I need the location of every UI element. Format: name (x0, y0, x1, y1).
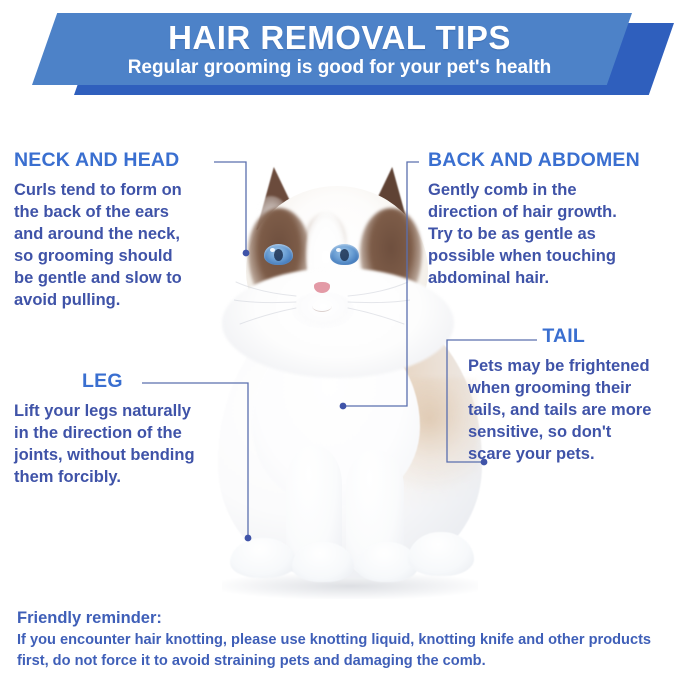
footer-body: If you encounter hair knotting, please u… (17, 630, 667, 670)
cat-eye-glint-left (270, 248, 275, 252)
cat-eye-right (330, 244, 359, 265)
cat-paw-1 (230, 538, 296, 578)
tip-block-leg: LEG Lift your legs naturally in the dire… (14, 371, 230, 489)
page-subtitle: Regular grooming is good for your pet's … (128, 58, 552, 79)
cat-paw-2 (292, 542, 354, 582)
tip-body-tail: Pets may be frightened when grooming the… (468, 356, 679, 466)
cat-paw-4 (408, 532, 474, 576)
tip-body-leg: Lift your legs naturally in the directio… (14, 401, 230, 489)
tip-body-neck-and-head: Curls tend to form on the back of the ea… (14, 180, 229, 312)
tip-block-tail: TAIL Pets may be frightened when groomin… (468, 326, 679, 466)
tip-block-neck-and-head: NECK AND HEAD Curls tend to form on the … (14, 150, 229, 312)
tip-heading-leg: LEG (82, 371, 230, 392)
cat-whiskers (234, 270, 410, 330)
footer-title: Friendly reminder: (17, 608, 667, 629)
tip-heading-tail: TAIL (468, 326, 585, 347)
tip-body-back-and-abdomen: Gently comb in the direction of hair gro… (428, 180, 678, 290)
cat-pupil-left (274, 249, 283, 261)
banner-text-group: HAIR REMOVAL TIPS Regular grooming is go… (0, 13, 679, 87)
page-title: HAIR REMOVAL TIPS (168, 21, 511, 56)
tip-block-back-and-abdomen: BACK AND ABDOMEN Gently comb in the dire… (428, 150, 678, 290)
cat-pupil-right (340, 249, 349, 261)
cat-eye-glint-right (336, 248, 341, 252)
tip-heading-neck-and-head: NECK AND HEAD (14, 150, 229, 171)
cat-eye-left (264, 244, 293, 265)
tip-heading-back-and-abdomen: BACK AND ABDOMEN (428, 150, 678, 171)
infographic-page: HAIR REMOVAL TIPS Regular grooming is go… (0, 0, 679, 679)
header-banner: HAIR REMOVAL TIPS Regular grooming is go… (0, 0, 679, 105)
footer-note: Friendly reminder: If you encounter hair… (17, 608, 667, 671)
